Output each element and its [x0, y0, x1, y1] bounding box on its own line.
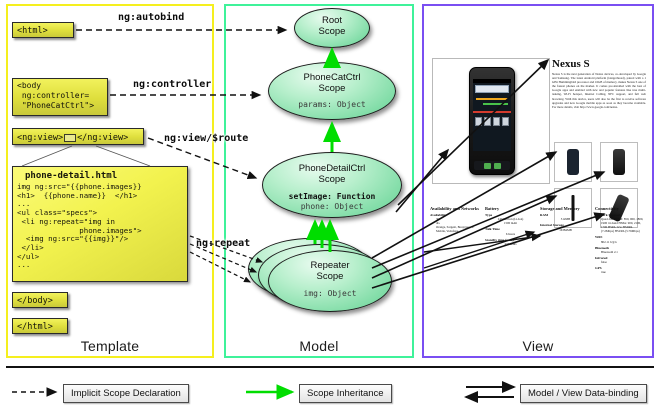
scope-cat-name1: PhoneCatCtrl [303, 72, 360, 83]
spec-value: 512MB [540, 217, 591, 221]
diagram-canvas: Template Model View <html> <body ng:cont… [0, 0, 660, 420]
note-title: phone-detail.html [13, 167, 187, 183]
scope-repeater-name2: Scope [317, 271, 344, 282]
product-description: Nexus S is the next generation of Nexus … [552, 72, 646, 109]
note-code: img ng:src="{{phone.images}} <h1> {{phon… [13, 183, 187, 270]
spec-value: Bluetooth 2.1 [595, 250, 646, 254]
spec-heading: Connectivity [595, 206, 646, 211]
product-title: Nexus S [552, 58, 590, 70]
phone-softkeys [474, 161, 510, 170]
legend-item-implicit-scope-declaration: Implicit Scope Declaration [63, 384, 189, 403]
phone-thumbnail[interactable] [554, 142, 592, 182]
spec-column: Storage and Memory RAM 512MB Internal St… [540, 206, 591, 274]
view-rendered-page: Nexus S Nexus S is the next generation o… [428, 10, 648, 340]
scope-repeater-prop-img: img: Object [269, 289, 391, 299]
phone-device-image [469, 67, 515, 175]
panel-view-label: View [424, 338, 652, 354]
spec-heading: Battery [485, 206, 536, 211]
edge-label-ng-repeat: ng:repeat [196, 238, 250, 249]
spec-column: Connectivity Network Support Quad-band G… [595, 206, 646, 274]
spec-value: false [595, 260, 646, 264]
spec-heading: Availability and Networks [430, 206, 481, 211]
ngview-close-tag: </ng:view> [77, 133, 128, 143]
legend-divider [6, 366, 654, 368]
scope-root-name2: Scope [319, 26, 346, 37]
ngview-open-tag: <ng:view> [17, 133, 63, 143]
spec-value: 428 hours [485, 242, 536, 246]
scope-phonedetailctrl: PhoneDetailCtrlScope setImage: Function … [262, 152, 402, 218]
spec-value: 6 hours [485, 232, 536, 236]
code-box-body-open: <body ng:controller= "PhoneCatCtrl"> [12, 78, 108, 116]
scope-detail-prop-phone: phone: Object [263, 202, 401, 212]
legend-item-scope-inheritance: Scope Inheritance [299, 384, 392, 403]
phone-hero-image-frame [432, 58, 550, 184]
ngview-slot-icon [64, 134, 76, 142]
spec-value: true [595, 270, 646, 274]
scope-detail-name1: PhoneDetailCtrl [299, 163, 366, 174]
scope-cat-name2: Scope [319, 83, 346, 94]
spec-heading: Storage and Memory [540, 206, 591, 211]
scope-cat-prop-params: params: Object [269, 100, 395, 110]
scope-root: RootScope [294, 8, 370, 48]
code-box-html-open: <html> [12, 22, 74, 38]
spec-value: 802.11 b/g/n [595, 240, 646, 244]
edge-label-ng-view-route: ng:view/$route [164, 133, 248, 144]
scope-phonecatctrl: PhoneCatCtrlScope params: Object [268, 62, 396, 120]
panel-model-label: Model [226, 338, 412, 354]
legend-item-data-binding: Model / View Data-binding [520, 384, 647, 403]
scope-repeater: RepeaterScope img: Object [268, 250, 392, 312]
scope-repeater-name1: Repeater [310, 260, 349, 271]
edge-label-ng-autobind: ng:autobind [118, 12, 184, 23]
spec-column: Availability and Networks Availability 3… [430, 206, 481, 274]
edge-label-ng-controller: ng:controller [133, 79, 211, 90]
scope-detail-name2: Scope [319, 174, 346, 185]
phone-thumbnail[interactable] [600, 142, 638, 182]
phone-screen [473, 79, 511, 151]
code-note-phone-detail: phone-detail.html img ng:src="{{phone.im… [12, 166, 188, 282]
spec-value: Quad-band GSM: 850, 900, 1800, 1900 tri-… [595, 217, 646, 233]
panel-template-label: Template [8, 338, 212, 354]
scope-detail-prop-setimage: setImage: Function [263, 192, 401, 202]
spec-value: 1500 mAh [485, 221, 536, 225]
spec-value: Orange, Sargent, Bouygues, T-Mobile, Vod… [430, 225, 481, 233]
phone-spec-table: Availability and Networks Availability 3… [430, 206, 646, 274]
code-box-body-close: </body> [12, 292, 68, 308]
code-box-ngview: <ng:view></ng:view> [12, 128, 144, 145]
scope-root-name1: Root [322, 15, 342, 26]
code-box-html-close: </html> [12, 318, 68, 334]
spec-value: 16384MB [540, 228, 591, 232]
spec-column: Battery Type Lithium Ion (Li-Ion) 1500 m… [485, 206, 536, 274]
